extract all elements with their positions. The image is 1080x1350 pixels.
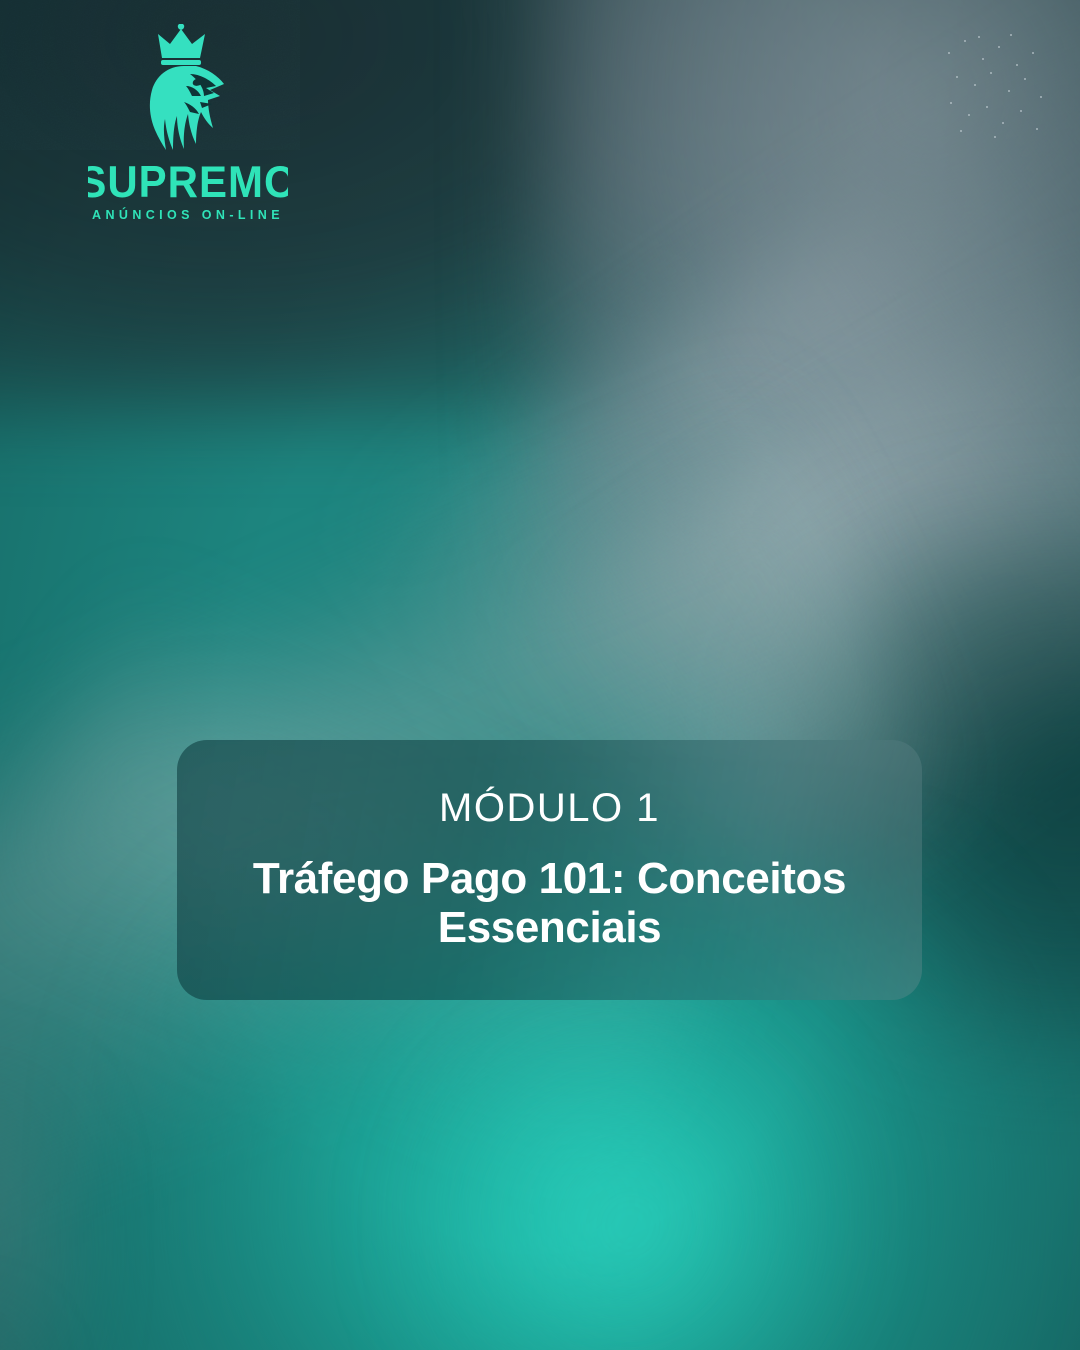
crowned-lion-head-icon (128, 24, 248, 152)
module-title-heading: Tráfego Pago 101: Conceitos Essenciais (230, 854, 870, 953)
module-eyebrow-label: MÓDULO 1 (439, 788, 660, 828)
poster-canvas: SUPREMO ANÚNCIOS ON-LINE MÓDULO 1 Tráfeg… (0, 0, 1080, 1350)
svg-text:SUPREMO: SUPREMO (88, 158, 288, 204)
brand-tagline: ANÚNCIOS ON-LINE (78, 208, 298, 222)
brand-wordmark: SUPREMO (88, 158, 288, 204)
brand-logo[interactable]: SUPREMO ANÚNCIOS ON-LINE (78, 24, 298, 222)
module-title-card: MÓDULO 1 Tráfego Pago 101: Conceitos Ess… (177, 740, 922, 1000)
